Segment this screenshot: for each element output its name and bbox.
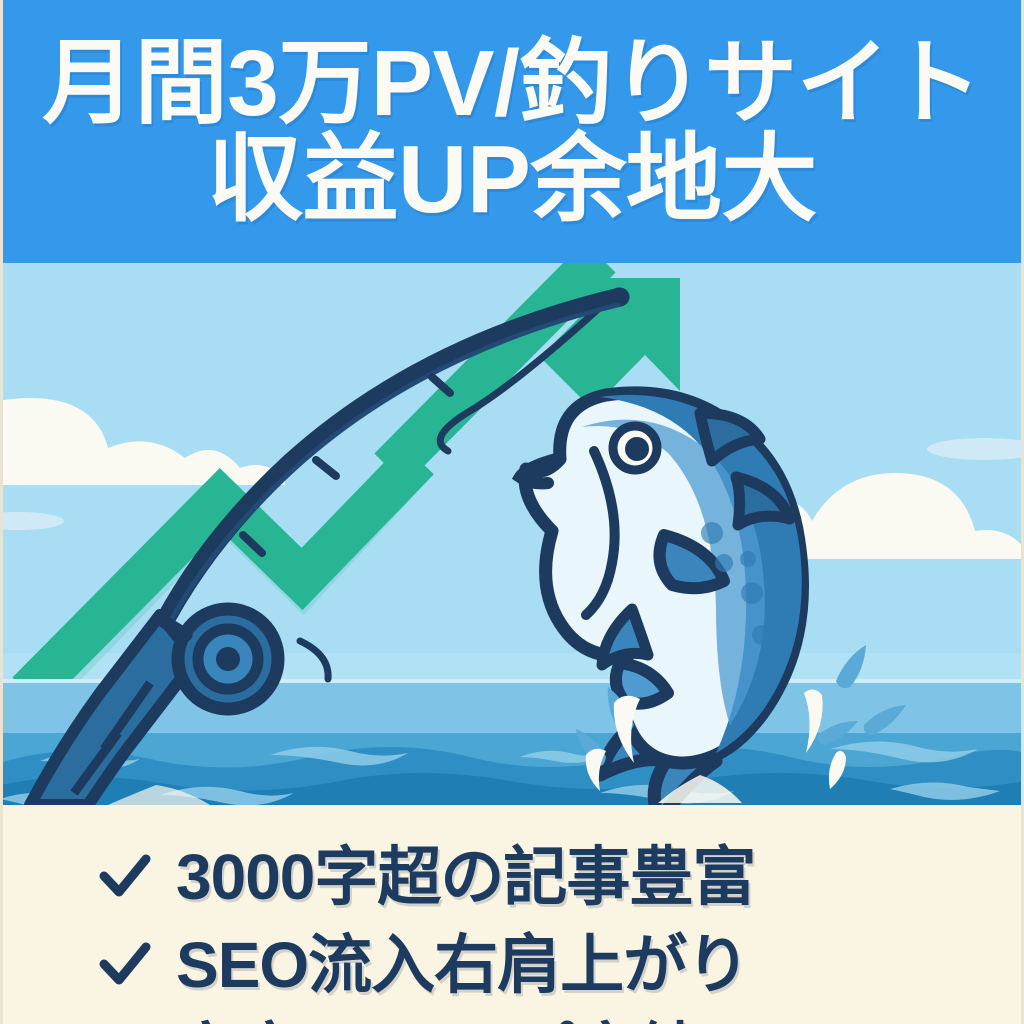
check-icon (96, 936, 154, 994)
feature-item-2: SEO流入右肩上がり (96, 929, 1024, 1001)
check-icon (96, 848, 154, 906)
feature-list: 3000字超の記事豊富 SEO流入右肩上がり 安定PVアップ実績 (0, 805, 1024, 1024)
header-title-line-2: 収益UP余地大 (207, 132, 817, 228)
scene-svg (0, 263, 1024, 805)
poster-root: 月間3万PV/釣りサイト 収益UP余地大 (0, 0, 1024, 1024)
feature-label-1: 3000字超の記事豊富 (176, 845, 755, 909)
feature-item-1: 3000字超の記事豊富 (96, 841, 1024, 913)
illustration-scene (0, 263, 1024, 805)
header-title-line-1: 月間3万PV/釣りサイト (42, 37, 982, 130)
feature-item-3: 安定PVアップ実績 (96, 1017, 1024, 1024)
fish-pupil (625, 437, 649, 461)
header-banner: 月間3万PV/釣りサイト 収益UP余地大 (0, 0, 1024, 263)
feature-label-2: SEO流入右肩上がり (176, 933, 749, 997)
